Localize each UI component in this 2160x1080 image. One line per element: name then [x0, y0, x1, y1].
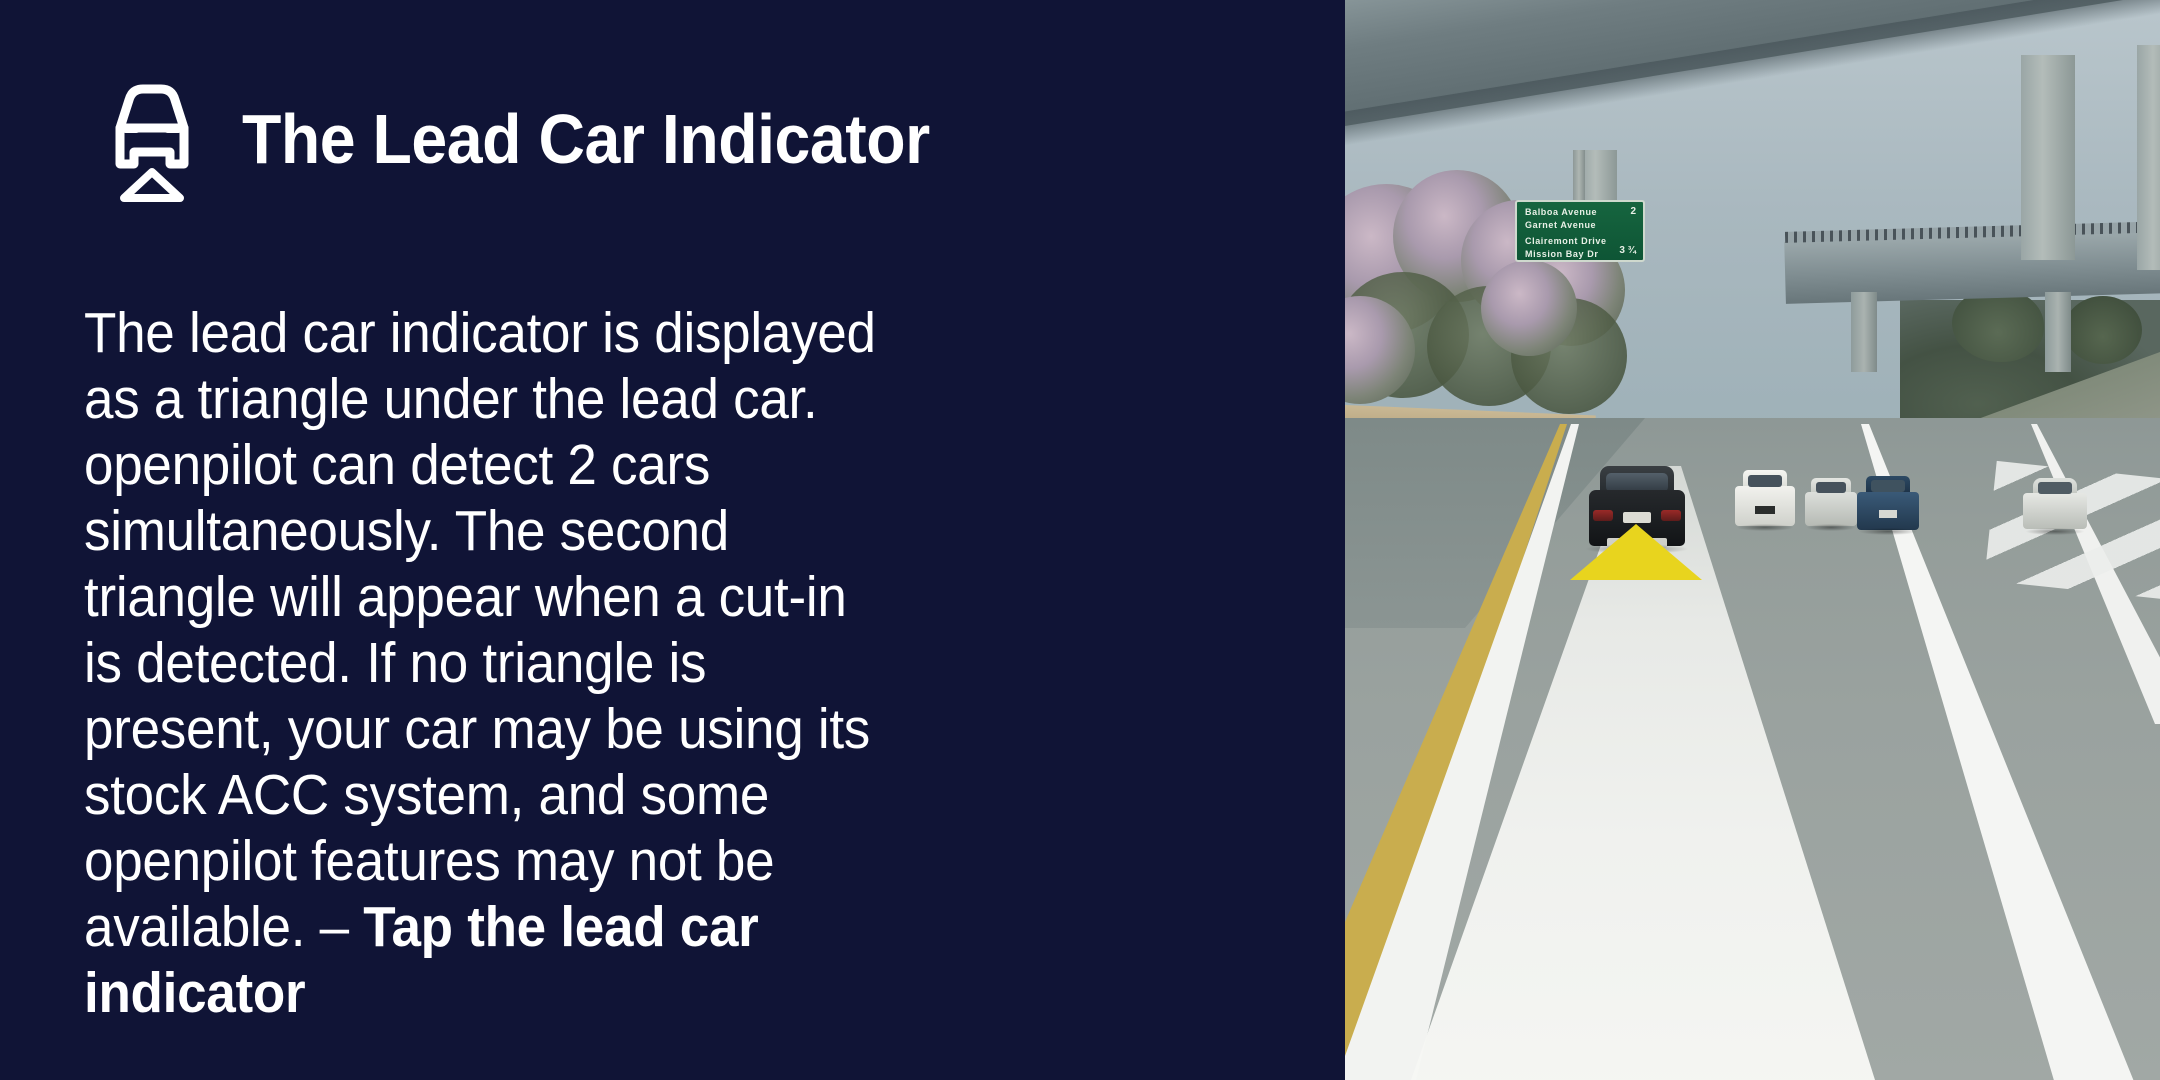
body-description: The lead car indicator is displayed as a… [84, 300, 884, 1026]
tree-right-1 [1952, 288, 2044, 362]
panel-header: The Lead Car Indicator [96, 76, 989, 202]
vehicle-white-suv [1735, 470, 1795, 526]
sign-line-balboa: Balboa Avenue [1525, 207, 1607, 218]
highway-dashcam-photo: Balboa Avenue Garnet Avenue Clairemont D… [1345, 0, 2160, 1080]
body-paragraph-text: The lead car indicator is displayed as a… [84, 301, 876, 959]
vehicle-silver-van [1805, 478, 1857, 526]
vehicle-blue-pickup [1857, 476, 1919, 530]
tree-right-2 [2064, 296, 2142, 364]
sign-distance-balboa: 2 [1630, 207, 1636, 217]
freeway-exit-sign: Balboa Avenue Garnet Avenue Clairemont D… [1515, 200, 1645, 262]
info-panel: The Lead Car Indicator The lead car indi… [0, 0, 1345, 1080]
slide-root: The Lead Car Indicator The lead car indi… [0, 0, 2160, 1080]
lower-overpass-column-2 [2045, 292, 2071, 372]
overpass-column-b [2021, 55, 2075, 260]
sign-distance-mission-bay: 3 ¾ [1619, 246, 1636, 256]
sign-destinations: Balboa Avenue Garnet Avenue Clairemont D… [1525, 207, 1607, 256]
sign-line-garnet: Garnet Avenue [1525, 220, 1607, 231]
lower-overpass-column-1 [1851, 292, 1877, 372]
sign-line-clairemont: Clairemont Drive [1525, 236, 1607, 247]
page-title: The Lead Car Indicator [242, 104, 930, 174]
sign-line-mission-bay: Mission Bay Dr [1525, 249, 1607, 260]
vehicle-silver-car [2023, 478, 2087, 530]
sign-distances: 2 3 ¾ [1619, 207, 1637, 256]
overpass-column-c [2137, 45, 2160, 270]
lead-car-with-triangle-icon [96, 76, 208, 202]
lead-car-triangle-overlay[interactable] [1570, 524, 1702, 580]
sign-post [1573, 150, 1585, 206]
